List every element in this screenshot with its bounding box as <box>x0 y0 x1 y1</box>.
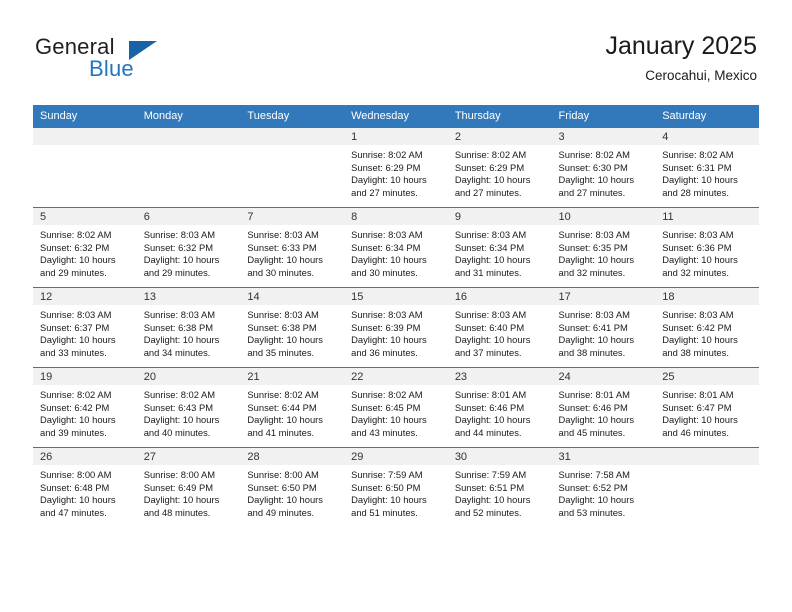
weekday-header-saturday: Saturday <box>655 105 759 128</box>
daylight-text: Daylight: 10 hours and 43 minutes. <box>351 414 443 439</box>
sunset-text: Sunset: 6:33 PM <box>247 242 339 255</box>
sunset-text: Sunset: 6:32 PM <box>144 242 236 255</box>
day-number: 8 <box>344 208 448 225</box>
calendar-week-row: 12Sunrise: 8:03 AMSunset: 6:37 PMDayligh… <box>33 288 759 368</box>
day-details: Sunrise: 8:01 AMSunset: 6:46 PMDaylight:… <box>448 385 552 439</box>
day-number: 6 <box>137 208 241 225</box>
logo[interactable]: General Blue <box>35 34 255 86</box>
daylight-text: Daylight: 10 hours and 30 minutes. <box>247 254 339 279</box>
sunset-text: Sunset: 6:43 PM <box>144 402 236 415</box>
calendar-day-cell[interactable]: 5Sunrise: 8:02 AMSunset: 6:32 PMDaylight… <box>33 208 137 288</box>
daylight-text: Daylight: 10 hours and 36 minutes. <box>351 334 443 359</box>
calendar-day-cell[interactable]: 15Sunrise: 8:03 AMSunset: 6:39 PMDayligh… <box>344 288 448 368</box>
daylight-text: Daylight: 10 hours and 27 minutes. <box>455 174 547 199</box>
daylight-text: Daylight: 10 hours and 37 minutes. <box>455 334 547 359</box>
sunset-text: Sunset: 6:51 PM <box>455 482 547 495</box>
calendar-day-cell[interactable]: 28Sunrise: 8:00 AMSunset: 6:50 PMDayligh… <box>240 448 344 528</box>
sunset-text: Sunset: 6:42 PM <box>662 322 754 335</box>
day-number: 21 <box>240 368 344 385</box>
day-number: 11 <box>655 208 759 225</box>
day-details: Sunrise: 8:02 AMSunset: 6:29 PMDaylight:… <box>344 145 448 199</box>
page-title: January 2025 <box>605 30 757 62</box>
day-details: Sunrise: 8:00 AMSunset: 6:50 PMDaylight:… <box>240 465 344 519</box>
day-number: 25 <box>655 368 759 385</box>
sunrise-text: Sunrise: 8:03 AM <box>455 229 547 242</box>
sunset-text: Sunset: 6:38 PM <box>144 322 236 335</box>
day-details: Sunrise: 8:03 AMSunset: 6:37 PMDaylight:… <box>33 305 137 359</box>
calendar-day-cell[interactable]: 10Sunrise: 8:03 AMSunset: 6:35 PMDayligh… <box>552 208 656 288</box>
sunset-text: Sunset: 6:46 PM <box>559 402 651 415</box>
calendar-week-row: 1Sunrise: 8:02 AMSunset: 6:29 PMDaylight… <box>33 128 759 208</box>
day-number <box>240 128 344 145</box>
day-details: Sunrise: 8:02 AMSunset: 6:42 PMDaylight:… <box>33 385 137 439</box>
sunrise-text: Sunrise: 8:02 AM <box>40 229 132 242</box>
calendar-day-cell[interactable]: 13Sunrise: 8:03 AMSunset: 6:38 PMDayligh… <box>137 288 241 368</box>
calendar-day-cell[interactable]: 12Sunrise: 8:03 AMSunset: 6:37 PMDayligh… <box>33 288 137 368</box>
weekday-header-friday: Friday <box>552 105 656 128</box>
day-details: Sunrise: 7:59 AMSunset: 6:51 PMDaylight:… <box>448 465 552 519</box>
day-number: 20 <box>137 368 241 385</box>
day-details: Sunrise: 8:03 AMSunset: 6:32 PMDaylight:… <box>137 225 241 279</box>
daylight-text: Daylight: 10 hours and 31 minutes. <box>455 254 547 279</box>
sunset-text: Sunset: 6:31 PM <box>662 162 754 175</box>
day-details: Sunrise: 8:02 AMSunset: 6:29 PMDaylight:… <box>448 145 552 199</box>
sunset-text: Sunset: 6:29 PM <box>351 162 443 175</box>
sunrise-text: Sunrise: 8:03 AM <box>144 309 236 322</box>
sunset-text: Sunset: 6:35 PM <box>559 242 651 255</box>
daylight-text: Daylight: 10 hours and 48 minutes. <box>144 494 236 519</box>
day-number <box>137 128 241 145</box>
daylight-text: Daylight: 10 hours and 41 minutes. <box>247 414 339 439</box>
day-number <box>33 128 137 145</box>
day-number: 3 <box>552 128 656 145</box>
calendar-day-cell[interactable]: 7Sunrise: 8:03 AMSunset: 6:33 PMDaylight… <box>240 208 344 288</box>
sunrise-text: Sunrise: 8:03 AM <box>559 309 651 322</box>
day-details: Sunrise: 8:02 AMSunset: 6:30 PMDaylight:… <box>552 145 656 199</box>
day-details: Sunrise: 8:02 AMSunset: 6:31 PMDaylight:… <box>655 145 759 199</box>
logo-text-blue: Blue <box>89 56 134 82</box>
day-details: Sunrise: 8:03 AMSunset: 6:35 PMDaylight:… <box>552 225 656 279</box>
calendar-day-cell-empty <box>137 128 241 208</box>
calendar-day-cell[interactable]: 24Sunrise: 8:01 AMSunset: 6:46 PMDayligh… <box>552 368 656 448</box>
calendar-day-cell[interactable]: 8Sunrise: 8:03 AMSunset: 6:34 PMDaylight… <box>344 208 448 288</box>
title-block: January 2025 Cerocahui, Mexico <box>605 30 757 86</box>
daylight-text: Daylight: 10 hours and 32 minutes. <box>559 254 651 279</box>
sunset-text: Sunset: 6:48 PM <box>40 482 132 495</box>
sunrise-text: Sunrise: 7:59 AM <box>351 469 443 482</box>
day-number: 23 <box>448 368 552 385</box>
day-details: Sunrise: 8:03 AMSunset: 6:34 PMDaylight:… <box>344 225 448 279</box>
daylight-text: Daylight: 10 hours and 52 minutes. <box>455 494 547 519</box>
sunrise-text: Sunrise: 8:00 AM <box>247 469 339 482</box>
daylight-text: Daylight: 10 hours and 34 minutes. <box>144 334 236 359</box>
calendar-day-cell[interactable]: 11Sunrise: 8:03 AMSunset: 6:36 PMDayligh… <box>655 208 759 288</box>
calendar-day-cell[interactable]: 29Sunrise: 7:59 AMSunset: 6:50 PMDayligh… <box>344 448 448 528</box>
daylight-text: Daylight: 10 hours and 38 minutes. <box>559 334 651 359</box>
sunrise-text: Sunrise: 8:02 AM <box>662 149 754 162</box>
day-details: Sunrise: 7:58 AMSunset: 6:52 PMDaylight:… <box>552 465 656 519</box>
day-details: Sunrise: 8:03 AMSunset: 6:38 PMDaylight:… <box>137 305 241 359</box>
sunrise-text: Sunrise: 8:03 AM <box>662 229 754 242</box>
day-number: 12 <box>33 288 137 305</box>
sunset-text: Sunset: 6:32 PM <box>40 242 132 255</box>
day-number: 4 <box>655 128 759 145</box>
weekday-header-monday: Monday <box>137 105 241 128</box>
sunrise-text: Sunrise: 8:01 AM <box>559 389 651 402</box>
day-number: 10 <box>552 208 656 225</box>
sunset-text: Sunset: 6:47 PM <box>662 402 754 415</box>
calendar-day-cell[interactable]: 22Sunrise: 8:02 AMSunset: 6:45 PMDayligh… <box>344 368 448 448</box>
calendar-day-cell[interactable]: 26Sunrise: 8:00 AMSunset: 6:48 PMDayligh… <box>33 448 137 528</box>
day-details: Sunrise: 8:03 AMSunset: 6:42 PMDaylight:… <box>655 305 759 359</box>
day-details: Sunrise: 8:02 AMSunset: 6:43 PMDaylight:… <box>137 385 241 439</box>
calendar-day-cell-empty <box>33 128 137 208</box>
sunrise-text: Sunrise: 8:02 AM <box>40 389 132 402</box>
page-subtitle: Cerocahui, Mexico <box>605 66 757 86</box>
weekday-header-tuesday: Tuesday <box>240 105 344 128</box>
daylight-text: Daylight: 10 hours and 29 minutes. <box>144 254 236 279</box>
weekday-header-sunday: Sunday <box>33 105 137 128</box>
calendar-day-cell[interactable]: 18Sunrise: 8:03 AMSunset: 6:42 PMDayligh… <box>655 288 759 368</box>
daylight-text: Daylight: 10 hours and 28 minutes. <box>662 174 754 199</box>
sunset-text: Sunset: 6:34 PM <box>351 242 443 255</box>
daylight-text: Daylight: 10 hours and 44 minutes. <box>455 414 547 439</box>
day-number: 28 <box>240 448 344 465</box>
daylight-text: Daylight: 10 hours and 40 minutes. <box>144 414 236 439</box>
daylight-text: Daylight: 10 hours and 47 minutes. <box>40 494 132 519</box>
sunrise-text: Sunrise: 8:03 AM <box>247 309 339 322</box>
sunset-text: Sunset: 6:39 PM <box>351 322 443 335</box>
day-details: Sunrise: 8:02 AMSunset: 6:32 PMDaylight:… <box>33 225 137 279</box>
sunset-text: Sunset: 6:34 PM <box>455 242 547 255</box>
day-details: Sunrise: 8:02 AMSunset: 6:45 PMDaylight:… <box>344 385 448 439</box>
daylight-text: Daylight: 10 hours and 27 minutes. <box>559 174 651 199</box>
day-details: Sunrise: 8:03 AMSunset: 6:41 PMDaylight:… <box>552 305 656 359</box>
calendar-page: General Blue January 2025 Cerocahui, Mex… <box>0 0 792 612</box>
sunrise-text: Sunrise: 8:03 AM <box>455 309 547 322</box>
sunset-text: Sunset: 6:42 PM <box>40 402 132 415</box>
sunrise-text: Sunrise: 8:03 AM <box>144 229 236 242</box>
day-number: 31 <box>552 448 656 465</box>
sunrise-text: Sunrise: 7:59 AM <box>455 469 547 482</box>
daylight-text: Daylight: 10 hours and 30 minutes. <box>351 254 443 279</box>
day-number: 14 <box>240 288 344 305</box>
sunrise-text: Sunrise: 8:01 AM <box>662 389 754 402</box>
day-number: 5 <box>33 208 137 225</box>
day-number: 7 <box>240 208 344 225</box>
sunset-text: Sunset: 6:49 PM <box>144 482 236 495</box>
sunset-text: Sunset: 6:37 PM <box>40 322 132 335</box>
sunset-text: Sunset: 6:50 PM <box>247 482 339 495</box>
day-details: Sunrise: 8:03 AMSunset: 6:38 PMDaylight:… <box>240 305 344 359</box>
daylight-text: Daylight: 10 hours and 35 minutes. <box>247 334 339 359</box>
sunrise-text: Sunrise: 7:58 AM <box>559 469 651 482</box>
daylight-text: Daylight: 10 hours and 49 minutes. <box>247 494 339 519</box>
calendar-day-cell[interactable]: 16Sunrise: 8:03 AMSunset: 6:40 PMDayligh… <box>448 288 552 368</box>
sunrise-text: Sunrise: 8:03 AM <box>247 229 339 242</box>
day-number <box>655 448 759 465</box>
sunset-text: Sunset: 6:50 PM <box>351 482 443 495</box>
sunrise-text: Sunrise: 8:03 AM <box>662 309 754 322</box>
calendar-day-cell[interactable]: 30Sunrise: 7:59 AMSunset: 6:51 PMDayligh… <box>448 448 552 528</box>
sunrise-text: Sunrise: 8:03 AM <box>351 229 443 242</box>
sunrise-text: Sunrise: 8:02 AM <box>351 389 443 402</box>
daylight-text: Daylight: 10 hours and 38 minutes. <box>662 334 754 359</box>
sunset-text: Sunset: 6:38 PM <box>247 322 339 335</box>
day-number: 24 <box>552 368 656 385</box>
day-details: Sunrise: 7:59 AMSunset: 6:50 PMDaylight:… <box>344 465 448 519</box>
daylight-text: Daylight: 10 hours and 29 minutes. <box>40 254 132 279</box>
sunrise-text: Sunrise: 8:01 AM <box>455 389 547 402</box>
calendar-day-cell-empty <box>655 448 759 528</box>
day-number: 27 <box>137 448 241 465</box>
calendar-table: Sunday Monday Tuesday Wednesday Thursday… <box>33 105 759 527</box>
calendar-day-cell[interactable]: 2Sunrise: 8:02 AMSunset: 6:29 PMDaylight… <box>448 128 552 208</box>
sunrise-text: Sunrise: 8:02 AM <box>455 149 547 162</box>
calendar-day-cell[interactable]: 6Sunrise: 8:03 AMSunset: 6:32 PMDaylight… <box>137 208 241 288</box>
calendar-day-cell[interactable]: 23Sunrise: 8:01 AMSunset: 6:46 PMDayligh… <box>448 368 552 448</box>
sunrise-text: Sunrise: 8:02 AM <box>144 389 236 402</box>
day-details: Sunrise: 8:00 AMSunset: 6:49 PMDaylight:… <box>137 465 241 519</box>
daylight-text: Daylight: 10 hours and 32 minutes. <box>662 254 754 279</box>
day-details: Sunrise: 8:03 AMSunset: 6:36 PMDaylight:… <box>655 225 759 279</box>
weekday-header-wednesday: Wednesday <box>344 105 448 128</box>
calendar-body: 1Sunrise: 8:02 AMSunset: 6:29 PMDaylight… <box>33 128 759 528</box>
daylight-text: Daylight: 10 hours and 39 minutes. <box>40 414 132 439</box>
sunrise-text: Sunrise: 8:00 AM <box>144 469 236 482</box>
sunrise-text: Sunrise: 8:03 AM <box>351 309 443 322</box>
sunset-text: Sunset: 6:36 PM <box>662 242 754 255</box>
calendar-day-cell[interactable]: 21Sunrise: 8:02 AMSunset: 6:44 PMDayligh… <box>240 368 344 448</box>
calendar-week-row: 5Sunrise: 8:02 AMSunset: 6:32 PMDaylight… <box>33 208 759 288</box>
calendar-header-row: Sunday Monday Tuesday Wednesday Thursday… <box>33 105 759 128</box>
sunset-text: Sunset: 6:45 PM <box>351 402 443 415</box>
calendar-day-cell[interactable]: 17Sunrise: 8:03 AMSunset: 6:41 PMDayligh… <box>552 288 656 368</box>
calendar-day-cell-empty <box>240 128 344 208</box>
day-number: 19 <box>33 368 137 385</box>
calendar-day-cell[interactable]: 31Sunrise: 7:58 AMSunset: 6:52 PMDayligh… <box>552 448 656 528</box>
daylight-text: Daylight: 10 hours and 53 minutes. <box>559 494 651 519</box>
calendar-week-row: 19Sunrise: 8:02 AMSunset: 6:42 PMDayligh… <box>33 368 759 448</box>
sunrise-text: Sunrise: 8:00 AM <box>40 469 132 482</box>
day-details: Sunrise: 8:00 AMSunset: 6:48 PMDaylight:… <box>33 465 137 519</box>
weekday-header-thursday: Thursday <box>448 105 552 128</box>
calendar-day-cell[interactable]: 3Sunrise: 8:02 AMSunset: 6:30 PMDaylight… <box>552 128 656 208</box>
daylight-text: Daylight: 10 hours and 46 minutes. <box>662 414 754 439</box>
page-header: General Blue January 2025 Cerocahui, Mex… <box>0 0 792 104</box>
daylight-text: Daylight: 10 hours and 33 minutes. <box>40 334 132 359</box>
calendar-day-cell[interactable]: 25Sunrise: 8:01 AMSunset: 6:47 PMDayligh… <box>655 368 759 448</box>
sunset-text: Sunset: 6:46 PM <box>455 402 547 415</box>
day-number: 2 <box>448 128 552 145</box>
day-number: 13 <box>137 288 241 305</box>
calendar-day-cell[interactable]: 9Sunrise: 8:03 AMSunset: 6:34 PMDaylight… <box>448 208 552 288</box>
sunset-text: Sunset: 6:29 PM <box>455 162 547 175</box>
day-details: Sunrise: 8:03 AMSunset: 6:33 PMDaylight:… <box>240 225 344 279</box>
sunrise-text: Sunrise: 8:02 AM <box>247 389 339 402</box>
day-details: Sunrise: 8:03 AMSunset: 6:39 PMDaylight:… <box>344 305 448 359</box>
sunset-text: Sunset: 6:40 PM <box>455 322 547 335</box>
day-details: Sunrise: 8:01 AMSunset: 6:46 PMDaylight:… <box>552 385 656 439</box>
day-number: 30 <box>448 448 552 465</box>
sunrise-text: Sunrise: 8:03 AM <box>40 309 132 322</box>
day-number: 15 <box>344 288 448 305</box>
calendar-day-cell[interactable]: 4Sunrise: 8:02 AMSunset: 6:31 PMDaylight… <box>655 128 759 208</box>
sunset-text: Sunset: 6:30 PM <box>559 162 651 175</box>
sunset-text: Sunset: 6:44 PM <box>247 402 339 415</box>
day-number: 16 <box>448 288 552 305</box>
daylight-text: Daylight: 10 hours and 51 minutes. <box>351 494 443 519</box>
calendar-week-row: 26Sunrise: 8:00 AMSunset: 6:48 PMDayligh… <box>33 448 759 528</box>
calendar-day-cell[interactable]: 1Sunrise: 8:02 AMSunset: 6:29 PMDaylight… <box>344 128 448 208</box>
day-details: Sunrise: 8:03 AMSunset: 6:40 PMDaylight:… <box>448 305 552 359</box>
calendar-day-cell[interactable]: 14Sunrise: 8:03 AMSunset: 6:38 PMDayligh… <box>240 288 344 368</box>
daylight-text: Daylight: 10 hours and 27 minutes. <box>351 174 443 199</box>
sunrise-text: Sunrise: 8:03 AM <box>559 229 651 242</box>
sunset-text: Sunset: 6:41 PM <box>559 322 651 335</box>
day-number: 29 <box>344 448 448 465</box>
day-number: 9 <box>448 208 552 225</box>
day-details: Sunrise: 8:03 AMSunset: 6:34 PMDaylight:… <box>448 225 552 279</box>
calendar-day-cell[interactable]: 20Sunrise: 8:02 AMSunset: 6:43 PMDayligh… <box>137 368 241 448</box>
day-details: Sunrise: 8:02 AMSunset: 6:44 PMDaylight:… <box>240 385 344 439</box>
day-details: Sunrise: 8:01 AMSunset: 6:47 PMDaylight:… <box>655 385 759 439</box>
sunrise-text: Sunrise: 8:02 AM <box>559 149 651 162</box>
day-number: 18 <box>655 288 759 305</box>
day-number: 22 <box>344 368 448 385</box>
sunrise-text: Sunrise: 8:02 AM <box>351 149 443 162</box>
day-number: 1 <box>344 128 448 145</box>
day-number: 17 <box>552 288 656 305</box>
day-number: 26 <box>33 448 137 465</box>
calendar-day-cell[interactable]: 27Sunrise: 8:00 AMSunset: 6:49 PMDayligh… <box>137 448 241 528</box>
sunset-text: Sunset: 6:52 PM <box>559 482 651 495</box>
daylight-text: Daylight: 10 hours and 45 minutes. <box>559 414 651 439</box>
calendar-day-cell[interactable]: 19Sunrise: 8:02 AMSunset: 6:42 PMDayligh… <box>33 368 137 448</box>
